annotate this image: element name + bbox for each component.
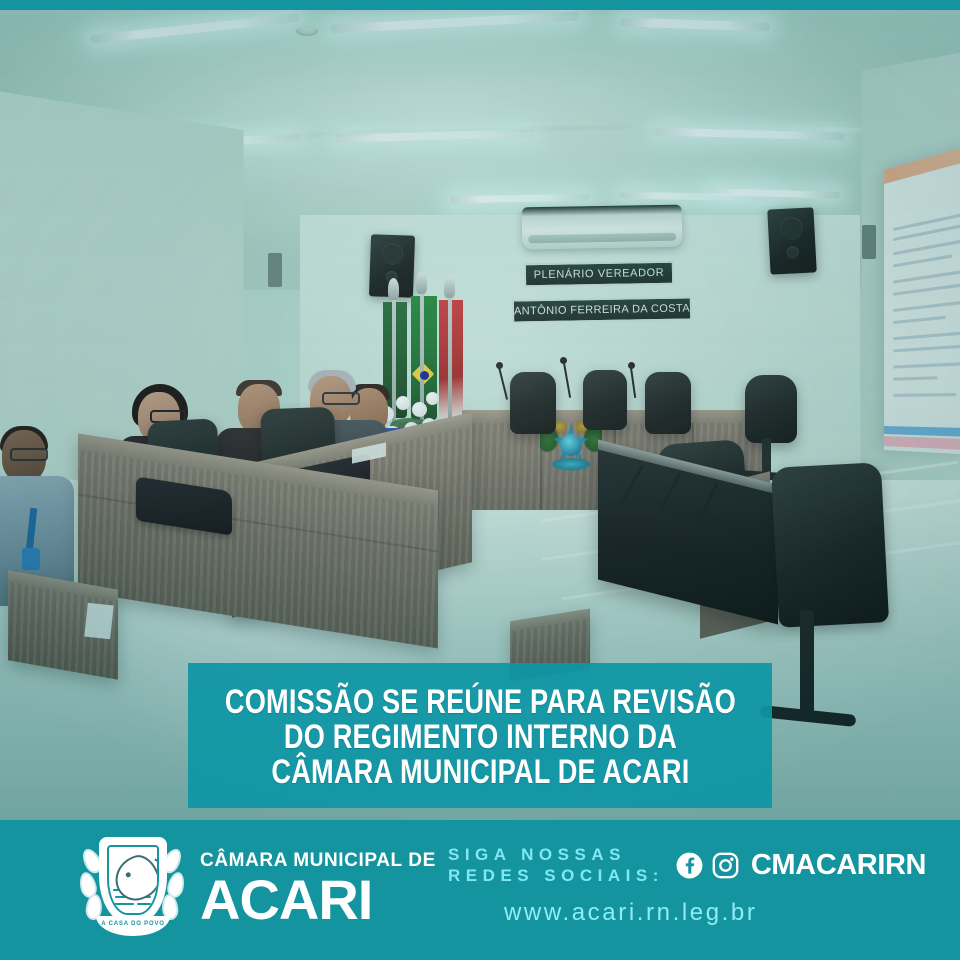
headline-line-3: CÂMARA MUNICIPAL DE ACARI (224, 755, 735, 790)
microphone-head (496, 362, 503, 369)
footer-bar: A CASA DO POVO CÂMARA MUNICIPAL DE ACARI… (0, 820, 960, 960)
plaque-nome-text: ANTÔNIO FERREIRA DA COSTA (514, 302, 690, 317)
wall-fixture (862, 225, 876, 259)
wall-fixture (268, 253, 282, 287)
social-icons (676, 852, 739, 879)
microphone-head (560, 357, 567, 364)
instagram-icon[interactable] (712, 852, 739, 879)
chair-base (800, 610, 814, 720)
headline-banner: COMISSÃO SE REÚNE PARA REVISÃO DO REGIME… (188, 663, 772, 808)
social-handle[interactable]: CMACARIRN (751, 849, 926, 882)
social-block: SIGA NOSSAS REDES SOCIAIS: (448, 844, 918, 927)
crest-icon: A CASA DO POVO (78, 834, 186, 944)
headline-text: COMISSÃO SE REÚNE PARA REVISÃO DO REGIME… (224, 685, 735, 790)
social-label: SIGA NOSSAS REDES SOCIAIS: (448, 844, 664, 887)
chair (745, 375, 797, 443)
website-url[interactable]: www.acari.rn.leg.br (504, 899, 918, 927)
headline-line-2: DO REGIMENTO INTERNO DA (224, 720, 735, 755)
social-label-line-2: REDES SOCIAIS: (448, 865, 664, 886)
flag-finial (388, 278, 399, 300)
poster-canvas: PLENÁRIO VEREADOR ANTÔNIO FERREIRA DA CO… (0, 0, 960, 960)
social-row: SIGA NOSSAS REDES SOCIAIS: (448, 844, 918, 887)
social-label-line-1: SIGA NOSSAS (448, 845, 626, 864)
microphone-head (628, 362, 635, 369)
crest-ribbon: A CASA DO POVO (96, 916, 170, 936)
logo-wordmark: CÂMARA MUNICIPAL DE ACARI (200, 851, 436, 928)
crest-motto: A CASA DO POVO (96, 921, 170, 927)
logo-line-small: CÂMARA MUNICIPAL DE (200, 851, 436, 870)
chair (645, 372, 691, 434)
paper-sheet (84, 603, 113, 640)
headline-line-1: COMISSÃO SE REÚNE PARA REVISÃO (224, 685, 735, 720)
logo-line-big: ACARI (200, 872, 436, 928)
plaque-plenario: PLENÁRIO VEREADOR (524, 261, 674, 288)
smoke-detector-icon (296, 26, 318, 36)
plaque-nome: ANTÔNIO FERREIRA DA COSTA (512, 296, 692, 323)
plaque-plenario-text: PLENÁRIO VEREADOR (534, 267, 665, 281)
facebook-icon[interactable] (676, 852, 703, 879)
projection-screen (884, 134, 960, 456)
camara-logo[interactable]: A CASA DO POVO CÂMARA MUNICIPAL DE ACARI (78, 834, 436, 944)
chair (583, 370, 627, 430)
chair (771, 462, 889, 628)
screen-doc-footer-2 (884, 436, 960, 452)
wall-speaker (767, 207, 817, 274)
flag-finial (416, 272, 427, 294)
flag-finial (444, 276, 455, 298)
air-conditioner (522, 205, 683, 250)
chair (510, 372, 556, 434)
